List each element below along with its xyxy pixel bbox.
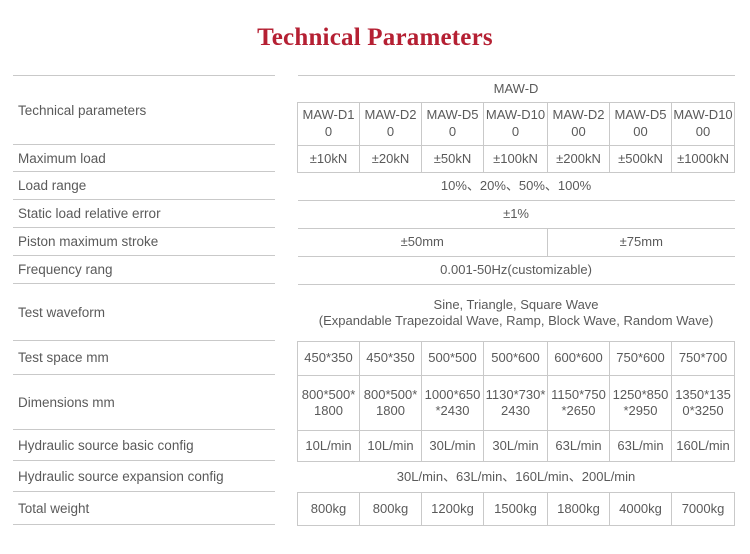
hydraulic-basic-value-4: 30L/min xyxy=(484,431,548,462)
table-row-dimensions: 800*500*1800 800*500*1800 1000*650*2430 … xyxy=(298,376,735,431)
maximum-load-value-5: ±200kN xyxy=(548,146,610,173)
test-space-value-4: 500*600 xyxy=(484,342,548,376)
page-title: Technical Parameters xyxy=(0,24,750,52)
row-label-total-weight: Total weight xyxy=(13,492,275,525)
test-space-value-3: 500*500 xyxy=(422,342,484,376)
table-row-series-header: MAW-D xyxy=(298,76,735,103)
total-weight-value-4: 1500kg xyxy=(484,493,548,526)
hydraulic-expansion-value: 30L/min、63L/min、160L/min、200L/min xyxy=(298,462,735,493)
model-header-6: MAW-D500 xyxy=(610,103,672,146)
row-label-piston-maximum-stroke: Piston maximum stroke xyxy=(13,228,275,256)
test-space-value-7: 750*700 xyxy=(672,342,735,376)
table-row-model-header: MAW-D10 MAW-D20 MAW-D50 MAW-D100 MAW-D20… xyxy=(298,103,735,146)
test-space-value-2: 450*350 xyxy=(360,342,422,376)
test-waveform-value: Sine, Triangle, Square Wave (Expandable … xyxy=(298,285,735,342)
total-weight-value-6: 4000kg xyxy=(610,493,672,526)
table-row: Hydraulic source expansion config xyxy=(13,461,275,492)
row-label-test-waveform: Test waveform xyxy=(13,284,275,341)
test-space-value-5: 600*600 xyxy=(548,342,610,376)
table-row-frequency-rang: 0.001-50Hz(customizable) xyxy=(298,257,735,285)
table-row: Hydraulic source basic config xyxy=(13,430,275,461)
table-row-maximum-load: ±10kN ±20kN ±50kN ±100kN ±200kN ±500kN ±… xyxy=(298,146,735,173)
table-row: Maximum load xyxy=(13,145,275,172)
dimensions-value-4: 1130*730*2430 xyxy=(484,376,548,431)
load-range-value: 10%、20%、50%、100% xyxy=(298,173,735,201)
technical-parameters-page: Technical Parameters Technical parameter… xyxy=(0,0,750,554)
row-label-load-range: Load range xyxy=(13,172,275,200)
piston-stroke-value-left: ±50mm xyxy=(298,229,548,257)
table-row: Dimensions mm xyxy=(13,375,275,430)
test-space-value-6: 750*600 xyxy=(610,342,672,376)
table-row-piston-maximum-stroke: ±50mm ±75mm xyxy=(298,229,735,257)
parameter-label-table: Technical parameters Maximum load Load r… xyxy=(13,75,275,525)
model-header-3: MAW-D50 xyxy=(422,103,484,146)
table-row: Static load relative error xyxy=(13,200,275,228)
table-row: Total weight xyxy=(13,492,275,525)
row-label-technical-parameters: Technical parameters xyxy=(13,76,275,145)
table-row-load-range: 10%、20%、50%、100% xyxy=(298,173,735,201)
test-waveform-line-2: (Expandable Trapezoidal Wave, Ramp, Bloc… xyxy=(299,313,734,329)
hydraulic-basic-value-1: 10L/min xyxy=(298,431,360,462)
piston-stroke-value-right: ±75mm xyxy=(548,229,735,257)
static-load-relative-error-value: ±1% xyxy=(298,201,735,229)
table-row: Test space mm xyxy=(13,341,275,375)
row-label-hydraulic-basic: Hydraulic source basic config xyxy=(13,430,275,461)
row-label-static-load-relative-error: Static load relative error xyxy=(13,200,275,228)
test-waveform-line-1: Sine, Triangle, Square Wave xyxy=(299,297,734,313)
total-weight-value-7: 7000kg xyxy=(672,493,735,526)
row-label-dimensions: Dimensions mm xyxy=(13,375,275,430)
dimensions-value-6: 1250*850*2950 xyxy=(610,376,672,431)
table-row: Load range xyxy=(13,172,275,200)
model-header-7: MAW-D1000 xyxy=(672,103,735,146)
maximum-load-value-7: ±1000kN xyxy=(672,146,735,173)
dimensions-value-2: 800*500*1800 xyxy=(360,376,422,431)
model-header-4: MAW-D100 xyxy=(484,103,548,146)
table-row-hydraulic-expansion: 30L/min、63L/min、160L/min、200L/min xyxy=(298,462,735,493)
row-label-test-space: Test space mm xyxy=(13,341,275,375)
specification-values-table: MAW-D MAW-D10 MAW-D20 MAW-D50 MAW-D100 M… xyxy=(297,75,735,526)
model-header-1: MAW-D10 xyxy=(298,103,360,146)
maximum-load-value-1: ±10kN xyxy=(298,146,360,173)
maximum-load-value-6: ±500kN xyxy=(610,146,672,173)
maximum-load-value-2: ±20kN xyxy=(360,146,422,173)
total-weight-value-1: 800kg xyxy=(298,493,360,526)
model-header-2: MAW-D20 xyxy=(360,103,422,146)
table-row-static-load-relative-error: ±1% xyxy=(298,201,735,229)
dimensions-value-7: 1350*1350*3250 xyxy=(672,376,735,431)
table-row: Technical parameters xyxy=(13,76,275,145)
row-label-maximum-load: Maximum load xyxy=(13,145,275,172)
dimensions-value-1: 800*500*1800 xyxy=(298,376,360,431)
table-row-test-space: 450*350 450*350 500*500 500*600 600*600 … xyxy=(298,342,735,376)
series-name-cell: MAW-D xyxy=(298,76,735,103)
model-header-5: MAW-D200 xyxy=(548,103,610,146)
table-row: Test waveform xyxy=(13,284,275,341)
total-weight-value-3: 1200kg xyxy=(422,493,484,526)
specification-values-column: MAW-D MAW-D10 MAW-D20 MAW-D50 MAW-D100 M… xyxy=(297,75,734,526)
test-space-value-1: 450*350 xyxy=(298,342,360,376)
hydraulic-basic-value-6: 63L/min xyxy=(610,431,672,462)
total-weight-value-5: 1800kg xyxy=(548,493,610,526)
dimensions-value-3: 1000*650*2430 xyxy=(422,376,484,431)
hydraulic-basic-value-5: 63L/min xyxy=(548,431,610,462)
row-label-hydraulic-expansion: Hydraulic source expansion config xyxy=(13,461,275,492)
hydraulic-basic-value-7: 160L/min xyxy=(672,431,735,462)
table-row: Frequency rang xyxy=(13,256,275,284)
frequency-rang-value: 0.001-50Hz(customizable) xyxy=(298,257,735,285)
maximum-load-value-3: ±50kN xyxy=(422,146,484,173)
table-row-total-weight: 800kg 800kg 1200kg 1500kg 1800kg 4000kg … xyxy=(298,493,735,526)
hydraulic-basic-value-3: 30L/min xyxy=(422,431,484,462)
table-row-test-waveform: Sine, Triangle, Square Wave (Expandable … xyxy=(298,285,735,342)
maximum-load-value-4: ±100kN xyxy=(484,146,548,173)
specifications-table: Technical parameters Maximum load Load r… xyxy=(0,75,750,526)
total-weight-value-2: 800kg xyxy=(360,493,422,526)
table-row-hydraulic-basic: 10L/min 10L/min 30L/min 30L/min 63L/min … xyxy=(298,431,735,462)
parameter-label-column: Technical parameters Maximum load Load r… xyxy=(13,75,275,525)
table-row: Piston maximum stroke xyxy=(13,228,275,256)
hydraulic-basic-value-2: 10L/min xyxy=(360,431,422,462)
dimensions-value-5: 1150*750*2650 xyxy=(548,376,610,431)
row-label-frequency-rang: Frequency rang xyxy=(13,256,275,284)
